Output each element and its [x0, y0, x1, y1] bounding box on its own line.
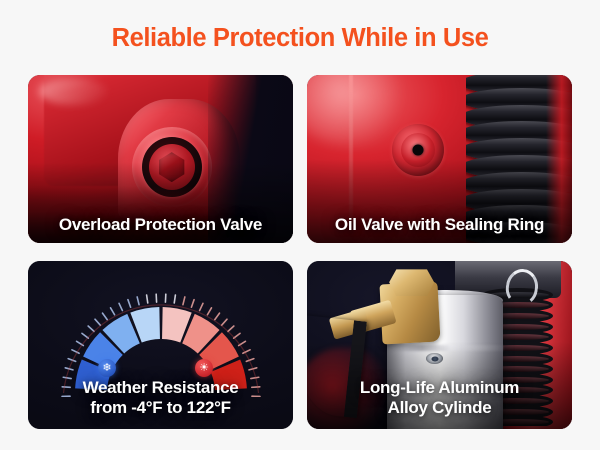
panel-weather-resistance[interactable]: ❄ ☀ Weather Resistance from -4°F to 122°… — [28, 261, 293, 429]
panel-caption: Oil Valve with Sealing Ring — [307, 215, 572, 234]
panel-caption: Long-Life Aluminum Alloy Cylinde — [307, 378, 572, 417]
panel-long-life-aluminum-alloy-cylinder[interactable]: Long-Life Aluminum Alloy Cylinde — [307, 261, 572, 429]
snowflake-icon: ❄ — [98, 359, 116, 377]
sun-icon: ☀ — [195, 359, 213, 377]
infographic-title: Reliable Protection While in Use — [0, 24, 600, 53]
panel-overload-protection-valve[interactable]: Overload Protection Valve — [28, 75, 293, 243]
panel-caption: Overload Protection Valve — [28, 215, 293, 234]
panel-oil-valve-sealing-ring[interactable]: Oil Valve with Sealing Ring — [307, 75, 572, 243]
feature-panel-grid: Overload Protection Valve Oil Valve with… — [28, 75, 572, 429]
panel-caption: Weather Resistance from -4°F to 122°F — [28, 378, 293, 417]
